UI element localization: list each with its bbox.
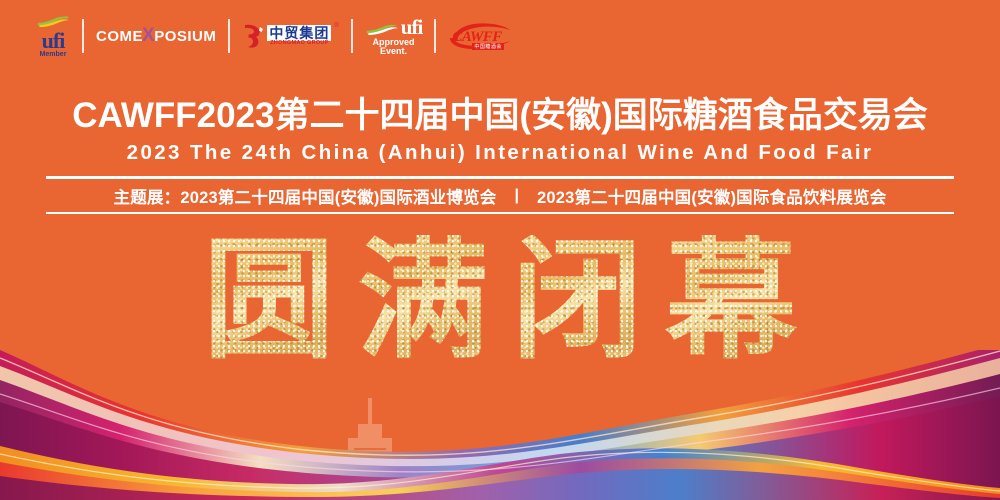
zhongmao-chinese-name: 中贸集团 xyxy=(267,25,331,41)
theme-rule-bottom xyxy=(46,212,954,214)
theme-divider: | xyxy=(514,187,518,205)
zhongmao-english-name: ZHONGMAO GROUP xyxy=(267,41,331,47)
registered-mark-icon: ® xyxy=(334,23,338,29)
ufi-approved-wing-icon xyxy=(365,23,399,37)
ufi-approved-line2: Event. xyxy=(373,47,415,56)
theme-exhibitions-bar: 主题展：2023第二十四届中国(安徽)国际酒业博览会 | 2023第二十四届中国… xyxy=(0,184,1000,208)
ufi-approved-event-logo: ufi Approved Event. xyxy=(353,13,435,59)
slogan-char: 圆 xyxy=(203,235,335,367)
slogan-char: 幕 xyxy=(665,235,797,367)
cawff-logo: CAWFF 中国糖酒会 xyxy=(436,13,526,59)
ufi-member-logo: ufi Member xyxy=(24,13,82,59)
comexposium-part1: COME xyxy=(96,28,143,45)
slogan-char: 满 xyxy=(357,235,489,367)
zhongmao-group-logo: 中贸集团 ZHONGMAO GROUP ® xyxy=(230,13,350,59)
zhongmao-dragon-icon xyxy=(242,23,264,49)
partner-logo-strip: ufi Member COME X POSIUM 中贸集团 ZHONGMA xyxy=(24,10,526,62)
page-title-chinese: CAWFF2023第二十四届中国(安徽)国际糖酒食品交易会 xyxy=(0,96,1000,135)
slogan-char: 闭 xyxy=(511,235,643,367)
ufi-member-caption: Member xyxy=(40,51,67,58)
ufi-approved-wordmark: ufi xyxy=(401,16,423,38)
ufi-wing-icon xyxy=(36,15,70,29)
slogan-successfully-concluded: 圆 满 闭 幕 xyxy=(0,235,1000,367)
theme-exhibition-first: 主题展：2023第二十四届中国(安徽)国际酒业博览会 xyxy=(114,184,497,208)
ufi-wordmark: ufi xyxy=(42,30,65,52)
comexposium-part2: POSIUM xyxy=(154,28,216,45)
theme-rule-top xyxy=(46,176,954,179)
cawff-chinese-sub: 中国糖酒会 xyxy=(472,43,504,50)
theme-exhibition-second: 2023第二十四届中国(安徽)国际食品饮料展览会 xyxy=(537,184,887,208)
colorful-ribbon-waves xyxy=(0,350,1000,500)
page-title-english: 2023 The 24th China (Anhui) Internationa… xyxy=(0,141,1000,165)
promotional-banner: ufi Member COME X POSIUM 中贸集团 ZHONGMA xyxy=(0,0,1000,500)
headline-block: CAWFF2023第二十四届中国(安徽)国际糖酒食品交易会 2023 The 2… xyxy=(0,96,1000,165)
comexposium-logo: COME X POSIUM xyxy=(84,13,228,59)
